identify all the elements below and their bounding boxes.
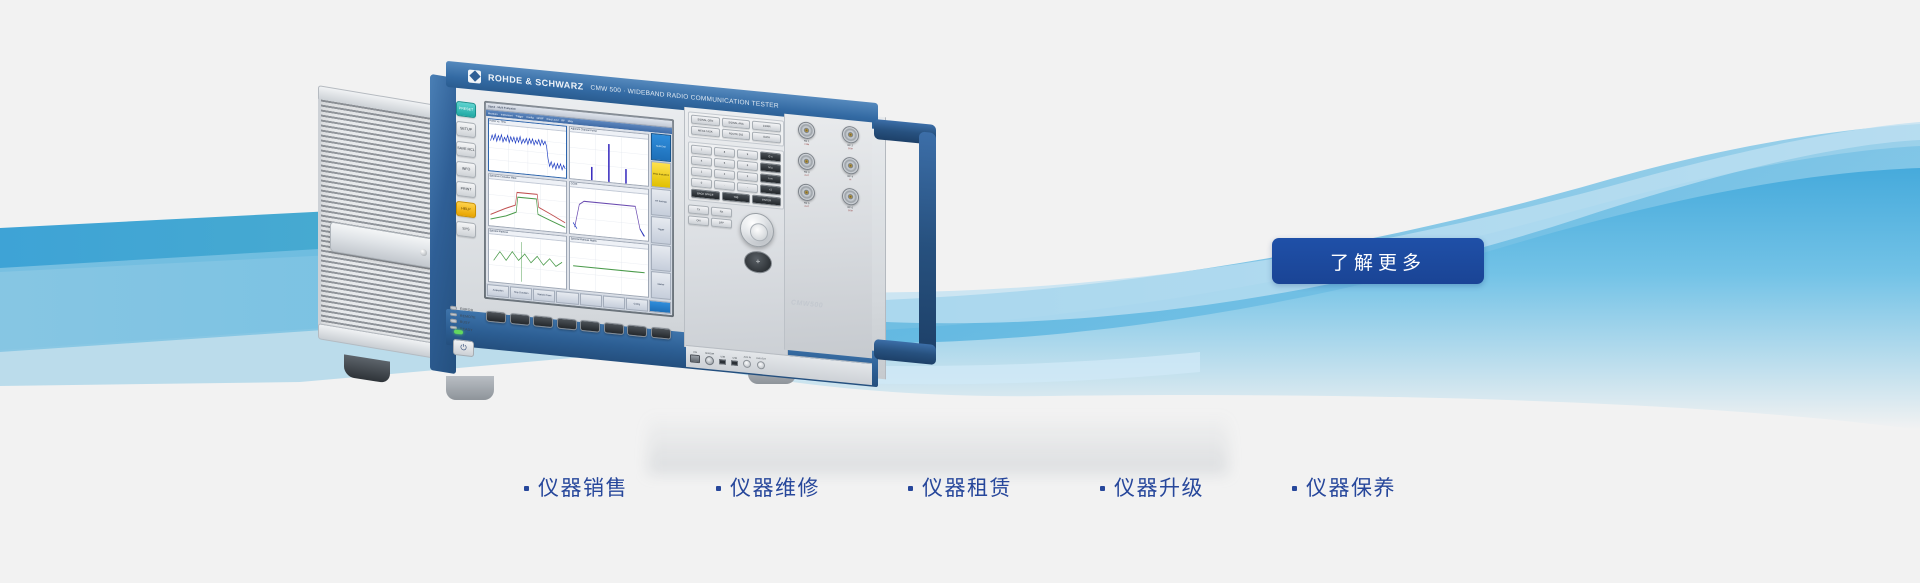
key-sys[interactable]: SYS <box>456 221 476 238</box>
plot-canvas <box>570 132 648 186</box>
key-9[interactable]: 9 <box>737 149 758 160</box>
plot-ccdf[interactable]: CCDF <box>569 181 649 242</box>
led-indicator-icon <box>450 319 457 323</box>
sensor-port-icon <box>705 355 714 365</box>
rf-sublabel: COM <box>848 210 853 212</box>
port-usb-2[interactable]: USB <box>731 357 738 366</box>
key-info[interactable]: INFO <box>456 161 476 178</box>
menu-item[interactable]: Measure <box>488 112 498 116</box>
key-save-recall[interactable]: SAVE RCL <box>456 141 476 158</box>
port-usb-1[interactable]: USB <box>719 356 726 365</box>
rf-sublabel: COM <box>804 144 809 146</box>
lcd-side-button-column: Multi Eval Meas Evaluation RF Settings T… <box>650 132 672 301</box>
service-link-rental[interactable]: 仪器租赁 <box>908 478 1012 499</box>
aux-connector-icon <box>743 359 751 368</box>
plot-canvas <box>489 124 567 178</box>
coaxial-connector-icon <box>842 156 859 175</box>
keypad-onoff-grid: TX RX ON OFF <box>688 204 732 228</box>
port-label: LAN <box>693 352 697 354</box>
key-4[interactable]: 4 <box>691 156 712 167</box>
softkey-button[interactable] <box>486 311 506 324</box>
led-label: ERROR <box>460 307 473 313</box>
bullet-icon <box>908 486 913 491</box>
measurement-plot-grid: Power vs. Time <box>486 116 650 299</box>
key-meas-task[interactable]: MEAS TASK <box>691 126 720 138</box>
lcd-side-button[interactable]: Marker <box>651 271 671 300</box>
port-lan[interactable]: LAN <box>690 351 700 363</box>
service-label: 仪器维修 <box>730 478 820 499</box>
key-setup[interactable]: SETUP <box>456 121 476 138</box>
softkey-button[interactable] <box>627 324 647 337</box>
rf-label: RF 3 <box>804 171 810 175</box>
keypad-group-numeric: 7 8 9 G n 4 5 6 M u 1 2 3 k m 0 . - x1 <box>688 141 784 209</box>
softkey-button[interactable] <box>651 327 671 340</box>
service-label: 仪器升级 <box>1114 478 1204 499</box>
led-label: REMOTE <box>460 313 476 319</box>
key-0[interactable]: 0 <box>691 178 712 189</box>
service-label: 仪器销售 <box>538 478 628 499</box>
rf-label: RF 5 <box>804 202 810 206</box>
coaxial-connector-icon <box>798 183 815 202</box>
key-backspace[interactable]: BACK SPACE <box>691 189 720 201</box>
menu-item[interactable]: Freq Level <box>547 117 559 121</box>
lcd-bottom-button[interactable]: Config <box>626 298 648 312</box>
usb-port-icon <box>719 359 726 365</box>
coaxial-connector-icon <box>798 121 815 140</box>
coaxial-connector-icon <box>842 187 859 206</box>
service-link-maintenance[interactable]: 仪器保养 <box>1292 478 1396 499</box>
lcd-side-button[interactable] <box>651 244 671 273</box>
port-aux-in[interactable]: AUX IN <box>743 356 751 368</box>
key-enter[interactable]: ENTER <box>752 195 781 207</box>
right-carry-handle <box>874 119 936 365</box>
keypad-task-grid: SIGNAL GEN SIGNAL ANA CORR MEAS TASK ROU… <box>691 115 781 144</box>
rf-label: RF 1 <box>804 140 810 144</box>
rf-connector-5[interactable]: RF 5 OUT <box>789 182 825 209</box>
usb-port-icon <box>731 360 738 366</box>
key-signal-gen[interactable]: SIGNAL GEN <box>691 115 720 127</box>
rf-connector-6[interactable]: RF 6 COM <box>833 186 869 213</box>
cmw500-instrument-image: ROHDE & SCHWARZ CMW 500 · WIDEBAND RADIO… <box>318 62 918 362</box>
coaxial-connector-icon <box>842 125 859 144</box>
brand-name: ROHDE & SCHWARZ <box>488 72 584 91</box>
bullet-icon <box>1292 486 1297 491</box>
key-tab[interactable]: TAB <box>722 192 751 204</box>
learn-more-button[interactable]: 了解更多 <box>1272 238 1484 284</box>
bullet-icon <box>1100 486 1105 491</box>
key-corr[interactable]: CORR <box>752 121 781 133</box>
key-help[interactable]: HELP <box>456 201 476 218</box>
lcd-bottom-button[interactable] <box>556 291 578 305</box>
plot-power-vs-time[interactable]: Power vs. Time <box>488 118 568 179</box>
rf-sublabel: OUT <box>805 206 809 208</box>
handle-bar-side <box>919 131 936 357</box>
softkey-button[interactable] <box>557 317 577 330</box>
rf-sublabel: COM <box>848 148 853 150</box>
rf-sublabel: IN <box>849 179 851 181</box>
lcd-side-button[interactable]: Multi Eval <box>651 133 671 162</box>
key-unit-kilo[interactable]: k m <box>760 173 781 184</box>
lcd-title: Signal · Multi Evaluation <box>488 105 516 111</box>
plot-adjacent-channel-power[interactable]: Adjacent Channel Power <box>569 125 649 186</box>
key-decimal[interactable]: . <box>714 180 735 191</box>
rf-label: RF 4 <box>847 175 853 179</box>
lcd-bottom-button[interactable]: Acquisition <box>487 284 509 298</box>
rf-connector-1[interactable]: RF 1 COM <box>789 120 825 147</box>
function-key-column: PRESET SETUP SAVE RCL INFO PRINT HELP SY… <box>454 101 478 304</box>
numeric-keypad-grid: 7 8 9 G n 4 5 6 M u 1 2 3 k m 0 . - x1 <box>691 145 781 196</box>
key-preset[interactable]: PRESET <box>456 101 476 118</box>
coaxial-connector-icon <box>798 152 815 171</box>
led-label: BUSY <box>460 320 470 325</box>
menu-item[interactable]: Trigger <box>516 114 524 118</box>
lcd-bottom-button[interactable] <box>649 300 671 314</box>
panel-model-mark: CMW500 <box>791 299 823 309</box>
key-tx[interactable]: TX <box>688 204 709 215</box>
menu-item[interactable]: RF <box>561 119 564 122</box>
key-2[interactable]: 2 <box>714 169 735 180</box>
hero-banner: ROHDE & SCHWARZ CMW 500 · WIDEBAND RADIO… <box>0 0 1920 583</box>
key-route-sig[interactable]: ROUTE SIG <box>722 129 751 141</box>
rohde-schwarz-logo-icon <box>468 69 481 83</box>
key-print[interactable]: PRINT <box>456 181 476 198</box>
lcd-bottom-button[interactable] <box>603 295 625 309</box>
lcd-screen[interactable]: Signal · Multi Evaluation Measure Instru… <box>486 103 672 315</box>
softkey-button[interactable] <box>510 313 530 326</box>
plot-spectral-flatness[interactable]: Spectral Flatness <box>488 228 568 289</box>
power-icon: ⏻ <box>460 343 466 354</box>
led-indicator-icon <box>450 306 457 310</box>
menu-item[interactable]: Config <box>526 115 533 119</box>
service-link-repair[interactable]: 仪器维修 <box>716 478 820 499</box>
port-label: AUX IN <box>744 357 751 360</box>
rf-connector-4[interactable]: RF 4 IN <box>833 155 869 182</box>
knob-and-dpad-area: TX RX ON OFF ✛ <box>688 204 784 277</box>
key-6[interactable]: 6 <box>737 160 758 171</box>
rotary-knob[interactable] <box>740 211 774 248</box>
service-links-row: 仪器销售 仪器维修 仪器租赁 仪器升级 仪器保养 <box>0 478 1920 499</box>
lcd-body: Power vs. Time <box>486 116 672 301</box>
key-off[interactable]: OFF <box>711 218 732 229</box>
aux-connector-icon <box>757 361 765 370</box>
rf-connector-2[interactable]: RF 2 COM <box>833 124 869 151</box>
led-indicator-icon <box>450 312 457 316</box>
service-label: 仪器租赁 <box>922 478 1012 499</box>
keypad-panel: SIGNAL GEN SIGNAL ANA CORR MEAS TASK ROU… <box>684 107 788 357</box>
key-unit-mega[interactable]: M u <box>760 162 781 173</box>
plot-canvas <box>570 242 648 296</box>
keypad-group-tasks: SIGNAL GEN SIGNAL ANA CORR MEAS TASK ROU… <box>688 111 784 146</box>
plot-spectrum-emission-mask[interactable]: Spectrum Emission Mask <box>488 173 568 234</box>
bullet-icon <box>524 486 529 491</box>
key-7[interactable]: 7 <box>691 145 712 156</box>
lcd-bottom-button[interactable] <box>580 293 602 307</box>
key-1[interactable]: 1 <box>691 167 712 178</box>
port-label: SENSOR <box>705 352 714 355</box>
port-label: USB <box>721 356 726 358</box>
power-button[interactable]: ⏻ <box>453 339 474 358</box>
plot-canvas <box>570 187 648 241</box>
lcd-side-button[interactable]: Trigger <box>651 216 671 245</box>
menu-item[interactable]: MHz <box>568 119 573 123</box>
key-5[interactable]: 5 <box>714 158 735 169</box>
direction-pad[interactable]: ✛ <box>744 250 772 275</box>
key-unit-x1[interactable]: x1 <box>760 184 781 195</box>
bullet-icon <box>716 486 721 491</box>
rf-connector-3[interactable]: RF 3 OUT <box>789 151 825 178</box>
service-link-sales[interactable]: 仪器销售 <box>524 478 628 499</box>
menu-item[interactable]: Instrument <box>501 113 513 117</box>
key-rx[interactable]: RX <box>711 207 732 218</box>
key-3[interactable]: 3 <box>737 171 758 182</box>
lan-port-icon <box>690 354 700 363</box>
instrument-foot <box>446 376 494 400</box>
key-data[interactable]: DATA <box>752 132 781 144</box>
plot-spectral-flatness-ripple[interactable]: Spectral Flatness Ripple <box>569 236 649 297</box>
service-link-upgrade[interactable]: 仪器升级 <box>1100 478 1204 499</box>
rf-connector-grid: RF 1 COM RF 2 COM RF 3 OUT RF 4 IN <box>789 120 868 214</box>
lcd-bottom-button[interactable]: Stop Condition <box>510 286 532 300</box>
menu-item[interactable]: GPRF <box>537 116 544 120</box>
lcd-bottom-button[interactable]: Statistic Count <box>533 289 555 303</box>
plot-canvas <box>489 234 567 288</box>
key-unit-giga[interactable]: G n <box>760 151 781 162</box>
key-signal-ana[interactable]: SIGNAL ANA <box>722 118 751 130</box>
lcd-screen-frame: Signal · Multi Evaluation Measure Instru… <box>484 101 674 318</box>
rf-sublabel: OUT <box>805 175 809 177</box>
rf-connector-panel: RF 1 COM RF 2 COM RF 3 OUT RF 4 IN <box>784 114 872 359</box>
rf-label: RF 6 <box>847 206 853 210</box>
rf-label: RF 2 <box>847 144 853 148</box>
softkey-button[interactable] <box>580 320 600 333</box>
port-sensor[interactable]: SENSOR <box>705 352 714 365</box>
softkey-button[interactable] <box>533 315 553 328</box>
plot-canvas <box>489 179 567 233</box>
lcd-side-button[interactable]: RF Settings <box>651 188 671 217</box>
lcd-side-button[interactable]: Meas Evaluation <box>651 161 671 190</box>
softkey-button[interactable] <box>604 322 624 335</box>
port-aux-out[interactable]: AUX OUT <box>756 358 766 370</box>
key-on[interactable]: ON <box>688 215 709 226</box>
key-8[interactable]: 8 <box>714 147 735 158</box>
key-minus[interactable]: - <box>737 182 758 193</box>
service-label: 仪器保养 <box>1306 478 1396 499</box>
